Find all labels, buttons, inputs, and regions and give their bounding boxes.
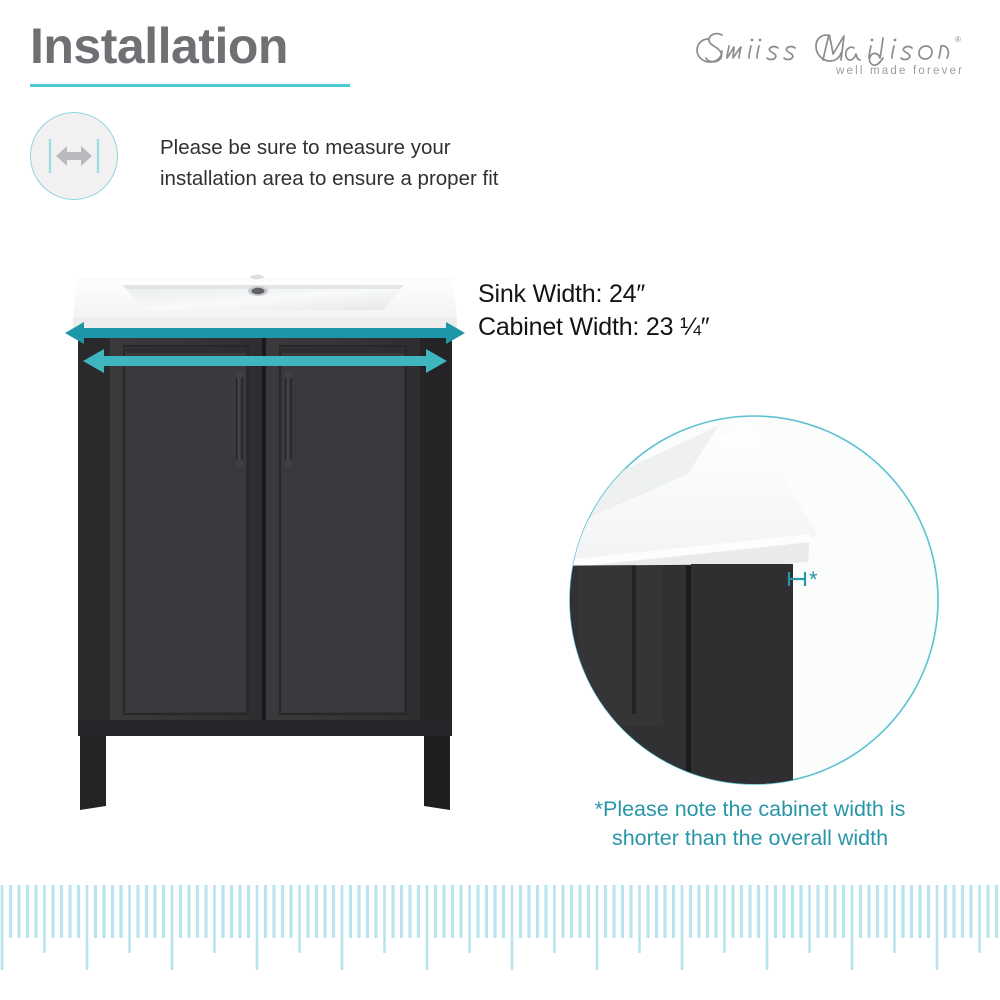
title-underline xyxy=(30,84,350,87)
installation-page: Installation xyxy=(0,0,1000,1000)
brand-tagline: well made forever xyxy=(835,65,964,77)
page-title: Installation xyxy=(30,20,288,73)
measure-note-line-2: installation area to ensure a proper fit xyxy=(160,163,660,194)
horizontal-measure-arrow-icon xyxy=(30,112,118,200)
cabinet-body xyxy=(78,328,452,736)
cabinet-legs xyxy=(80,736,450,810)
dimension-callouts: Sink Width: 24″ Cabinet Width: 23 ¼″ xyxy=(478,278,898,344)
sink-top xyxy=(73,275,457,328)
door-handle-right xyxy=(285,371,293,467)
measure-note-line-1: Please be sure to measure your xyxy=(160,132,660,163)
measure-note: Please be sure to measure your installat… xyxy=(30,112,670,212)
leg-left xyxy=(80,736,106,810)
ruler-graphic xyxy=(0,880,1000,990)
inset-side-panel xyxy=(691,564,793,786)
cabinet-width-detail-circle: * xyxy=(568,414,940,786)
footnote-line-2: shorter than the overall width xyxy=(540,824,960,853)
cabinet-width-footnote: *Please note the cabinet width is shorte… xyxy=(540,795,960,853)
measure-note-text: Please be sure to measure your installat… xyxy=(160,132,660,194)
footnote-line-1: *Please note the cabinet width is xyxy=(540,795,960,824)
cabinet-width-label: Cabinet Width: 23 ¼″ xyxy=(478,311,898,344)
vanity-illustration xyxy=(60,258,470,818)
leg-right xyxy=(424,736,450,810)
sink-width-label: Sink Width: 24″ xyxy=(478,278,898,311)
door-handle-left xyxy=(236,371,244,467)
brand-logo: ® well made forever xyxy=(678,26,978,84)
registered-mark: ® xyxy=(955,35,961,44)
marker-asterisk: * xyxy=(809,567,818,592)
